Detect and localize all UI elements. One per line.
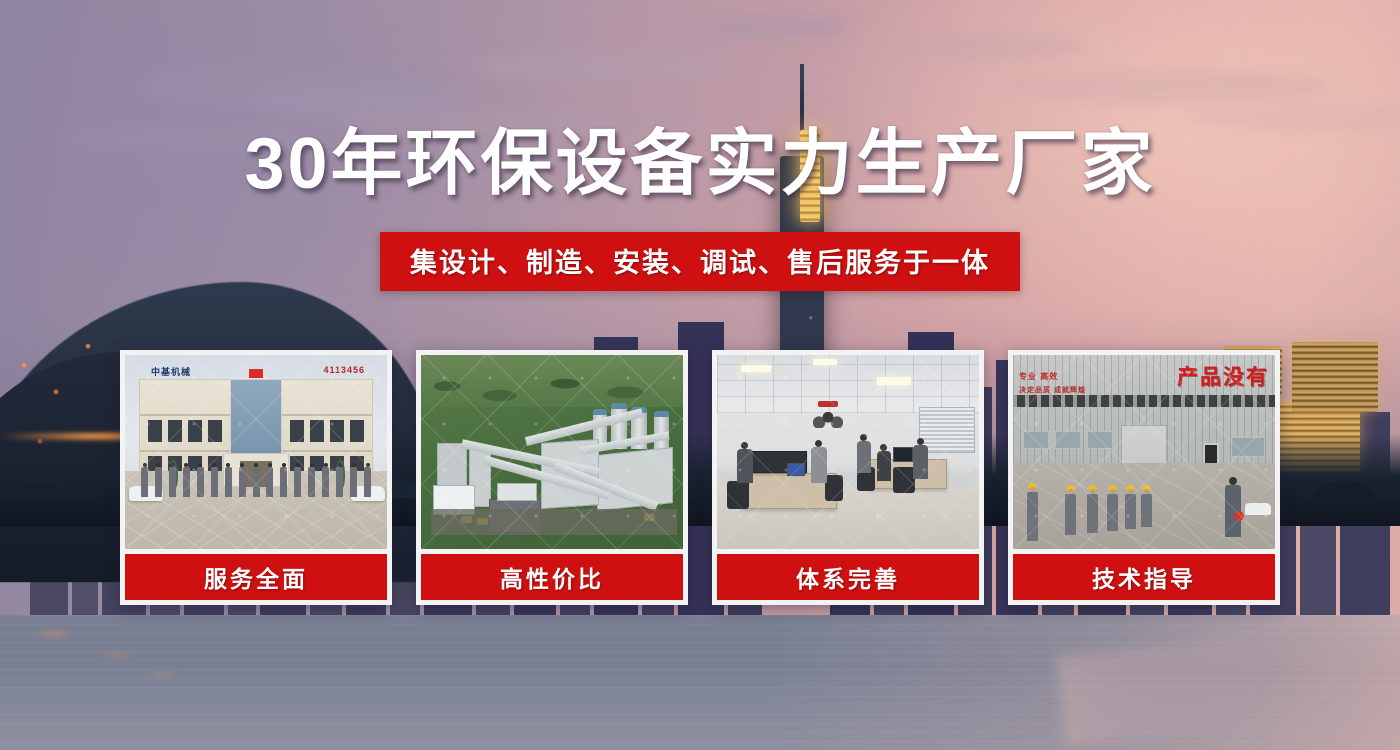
card-label: 体系完善 [717, 554, 979, 600]
card-thumbnail-factory-workers: 产品没有 专业 高效 决定品质 成就辉煌 [1013, 355, 1275, 549]
feature-card[interactable]: 高性价比 [416, 350, 688, 605]
page-title: 30年环保设备实力生产厂家 [0, 128, 1400, 200]
card-label: 技术指导 [1013, 554, 1275, 600]
feature-card[interactable]: 产品没有 专业 高效 决定品质 成就辉煌 [1008, 350, 1280, 605]
staff-lineup [141, 463, 371, 497]
building-sign-text: 中基机械 [151, 365, 191, 378]
water-city-reflection [18, 620, 198, 690]
cloud [1000, 70, 1330, 104]
parked-car [1245, 503, 1271, 515]
factory-wall-text-large: 产品没有 [1177, 361, 1269, 391]
feature-card[interactable]: 体系完善 [712, 350, 984, 605]
wall-decal [809, 401, 847, 431]
promo-banner: 30年环保设备实力生产厂家 集设计、制造、安装、调试、售后服务于一体 [0, 0, 1400, 750]
supervisor [1225, 477, 1241, 537]
building-phone-number: 4113456 [323, 365, 365, 375]
card-thumbnail-office-interior [717, 355, 979, 549]
factory-wall-text-small-1: 专业 高效 [1019, 371, 1058, 382]
card-label: 高性价比 [421, 554, 683, 600]
card-thumbnail-industrial-plant [421, 355, 683, 549]
lit-building [1292, 342, 1378, 412]
cloud [470, 52, 730, 82]
feature-card-list: 中基机械 4113456 服务全面 [120, 350, 1280, 605]
cloud [700, 16, 850, 38]
factory-wall-text-small-2: 决定品质 成就辉煌 [1019, 385, 1086, 395]
feature-card[interactable]: 中基机械 4113456 服务全面 [120, 350, 392, 605]
card-thumbnail-office-building: 中基机械 4113456 [125, 355, 387, 549]
cloud [860, 34, 1090, 60]
card-label: 服务全面 [125, 554, 387, 600]
flag [249, 369, 263, 378]
red-helmet [1234, 511, 1244, 521]
subtitle-banner: 集设计、制造、安装、调试、售后服务于一体 [380, 232, 1020, 291]
